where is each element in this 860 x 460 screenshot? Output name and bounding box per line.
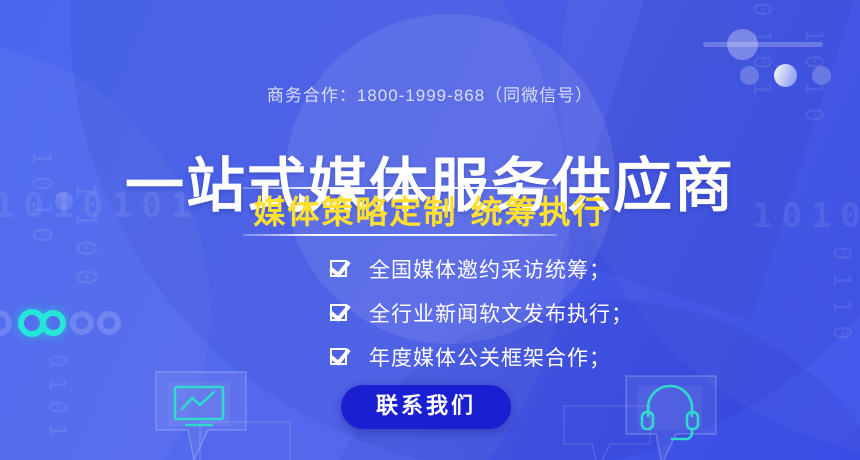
list-item: 年度媒体公关框架合作； <box>330 340 750 373</box>
list-item-label: 全行业新闻软文发布执行； <box>369 298 633 328</box>
contact-us-button[interactable]: 联系我们 <box>341 385 511 429</box>
list-item-label: 全国媒体邀约采访统筹； <box>369 254 611 284</box>
banner-content: 商务合作：1800-1999-868（同微信号） 一站式媒体服务供应商 媒体策略… <box>0 0 860 460</box>
subhead-rule-top <box>243 187 557 189</box>
checkbox-checked-icon <box>330 348 347 365</box>
list-item-label: 年度媒体公关框架合作； <box>369 342 611 372</box>
list-item: 全行业新闻软文发布执行； <box>330 296 750 329</box>
subhead-rule-bottom <box>243 234 557 236</box>
checkbox-checked-icon <box>330 260 347 277</box>
list-item: 全国媒体邀约采访统筹； <box>330 252 750 285</box>
subtitle: 媒体策略定制 统筹执行 <box>0 193 860 231</box>
contact-line: 商务合作：1800-1999-868（同微信号） <box>0 81 860 106</box>
checkbox-checked-icon <box>330 304 347 321</box>
promo-banner: 1010101 1010 1100 0101 1010101 0101 1010… <box>0 0 860 460</box>
feature-list: 全国媒体邀约采访统筹； 全行业新闻软文发布执行； 年度媒体公关框架合作； <box>330 252 750 384</box>
